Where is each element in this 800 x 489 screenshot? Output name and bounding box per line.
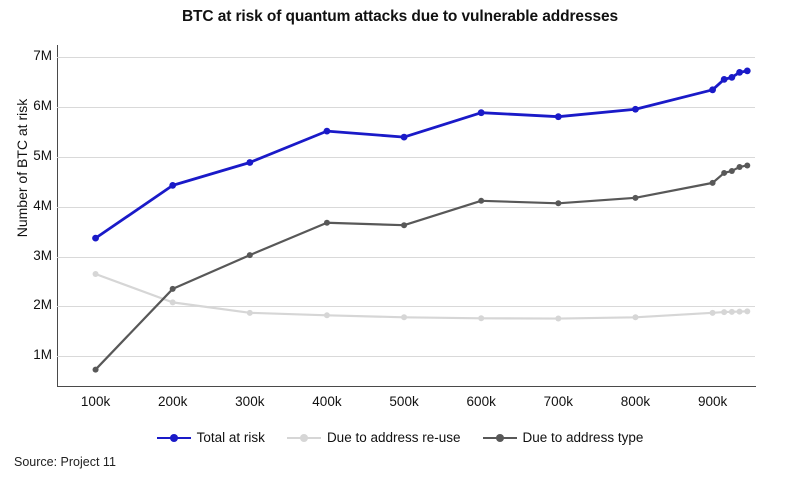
- x-axis-tick-label: 300k: [215, 394, 285, 409]
- data-point: [246, 159, 253, 166]
- legend-item[interactable]: Total at risk: [157, 430, 265, 445]
- data-point: [632, 195, 638, 201]
- data-point: [728, 74, 735, 81]
- x-axis-tick-label: 600k: [446, 394, 516, 409]
- data-point: [744, 308, 750, 314]
- data-point: [632, 106, 639, 113]
- data-point: [710, 180, 716, 186]
- data-point: [324, 128, 331, 135]
- series-lines: [57, 45, 755, 386]
- data-point: [737, 164, 743, 170]
- data-point: [721, 309, 727, 315]
- data-point: [710, 310, 716, 316]
- data-point: [632, 314, 638, 320]
- x-axis-tick-label: 500k: [369, 394, 439, 409]
- data-point: [324, 312, 330, 318]
- x-axis-tick-label: 900k: [678, 394, 748, 409]
- series-1: [93, 271, 751, 322]
- source-note: Source: Project 11: [14, 455, 116, 469]
- x-axis-tick-label: 200k: [138, 394, 208, 409]
- data-point: [247, 252, 253, 258]
- legend-label: Due to address re-use: [327, 430, 461, 445]
- y-axis-tick-label: 6M: [0, 98, 52, 113]
- y-axis-tick-label: 3M: [0, 248, 52, 263]
- series-2: [93, 162, 751, 372]
- data-point: [555, 113, 562, 120]
- series-0: [92, 67, 751, 241]
- data-point: [247, 310, 253, 316]
- series-line: [96, 71, 748, 238]
- legend-label: Total at risk: [197, 430, 265, 445]
- data-point: [478, 109, 485, 116]
- data-point: [744, 162, 750, 168]
- data-point: [737, 309, 743, 315]
- x-axis-tick-label: 400k: [292, 394, 362, 409]
- data-point: [555, 200, 561, 206]
- chart-title: BTC at risk of quantum attacks due to vu…: [0, 8, 800, 26]
- data-point: [170, 286, 176, 292]
- data-point: [555, 316, 561, 322]
- legend-marker-icon: [483, 432, 517, 444]
- data-point: [709, 86, 716, 93]
- data-point: [729, 309, 735, 315]
- x-axis-tick-label: 800k: [600, 394, 670, 409]
- series-line: [96, 165, 748, 369]
- data-point: [93, 367, 99, 373]
- data-point: [401, 134, 408, 141]
- y-axis-tick-label: 5M: [0, 148, 52, 163]
- data-point: [721, 76, 728, 83]
- data-point: [401, 222, 407, 228]
- data-point: [478, 198, 484, 204]
- y-axis-tick-label: 2M: [0, 297, 52, 312]
- legend-item[interactable]: Due to address re-use: [287, 430, 461, 445]
- y-axis-tick-label: 4M: [0, 198, 52, 213]
- plot-area: [57, 45, 755, 386]
- data-point: [170, 299, 176, 305]
- data-point: [721, 170, 727, 176]
- legend-label: Due to address type: [523, 430, 644, 445]
- x-axis-tick-label: 100k: [61, 394, 131, 409]
- data-point: [92, 235, 99, 242]
- data-point: [169, 182, 176, 189]
- y-axis-tick-label: 7M: [0, 48, 52, 63]
- chart-container: BTC at risk of quantum attacks due to vu…: [0, 0, 800, 489]
- data-point: [744, 67, 751, 74]
- data-point: [729, 168, 735, 174]
- y-axis-title: Number of BTC at risk: [14, 58, 30, 278]
- data-point: [324, 220, 330, 226]
- data-point: [478, 315, 484, 321]
- legend-marker-icon: [157, 432, 191, 444]
- y-axis-tick-label: 1M: [0, 347, 52, 362]
- data-point: [736, 69, 743, 76]
- x-axis-line: [57, 386, 756, 387]
- chart-legend: Total at riskDue to address re-useDue to…: [0, 430, 800, 445]
- data-point: [93, 271, 99, 277]
- data-point: [401, 314, 407, 320]
- legend-marker-icon: [287, 432, 321, 444]
- x-axis-tick-label: 700k: [523, 394, 593, 409]
- legend-item[interactable]: Due to address type: [483, 430, 644, 445]
